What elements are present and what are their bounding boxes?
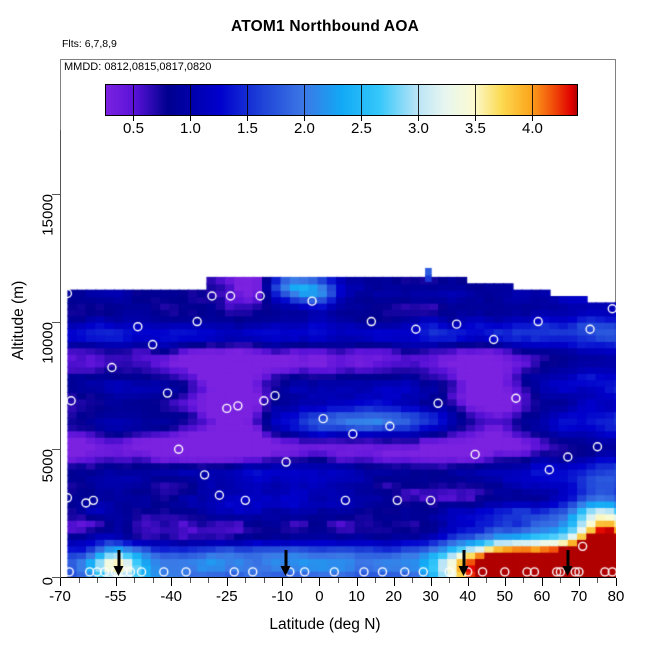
x-axis-minor-tick (97, 578, 98, 583)
x-axis-tick (171, 578, 172, 586)
latitude-arrow-marker (114, 550, 125, 576)
flights-annotation: Flts: 6,7,8,9 (62, 38, 117, 50)
y-axis-tick-label: 5000 (40, 449, 57, 482)
colorbar-gradient (105, 84, 578, 116)
x-axis-tick (394, 578, 395, 586)
y-axis-tick-label: 0 (40, 577, 57, 585)
x-axis-tick-label: 0 (315, 588, 323, 605)
x-axis-tick (505, 578, 506, 586)
x-axis-tick (468, 578, 469, 586)
x-axis-minor-tick (264, 578, 265, 583)
x-axis-tick (227, 578, 228, 586)
x-axis-tick (542, 578, 543, 586)
colorbar: 0.51.01.52.02.53.03.54.0 (105, 84, 578, 116)
x-axis-minor-tick (245, 578, 246, 583)
x-axis-tick-label: 60 (534, 588, 551, 605)
x-axis-tick (319, 578, 320, 586)
x-axis-tick-label: -10 (272, 588, 294, 605)
x-axis-tick-label: 10 (348, 588, 365, 605)
latitude-arrow-marker (459, 550, 470, 576)
x-axis-tick (60, 578, 61, 586)
heatmap-plot (60, 130, 616, 578)
y-axis-tick-label: 10000 (40, 322, 57, 364)
x-axis-minor-tick (449, 578, 450, 583)
x-axis-minor-tick (79, 578, 80, 583)
x-axis-minor-tick (560, 578, 561, 583)
x-axis-tick (116, 578, 117, 586)
x-axis-minor-tick (523, 578, 524, 583)
colorbar-segment-divider (475, 84, 476, 116)
colorbar-segment-divider (361, 84, 362, 116)
colorbar-segment-divider (304, 84, 305, 116)
x-axis-minor-tick (338, 578, 339, 583)
x-axis-minor-tick (153, 578, 154, 583)
x-axis-tick-label: 40 (459, 588, 476, 605)
x-axis-tick-label: -40 (160, 588, 182, 605)
figure-root: ATOM1 Northbound AOA Flts: 6,7,8,9 MMDD:… (0, 0, 650, 650)
x-axis-tick-label: 80 (608, 588, 625, 605)
latitude-arrow-marker (281, 550, 292, 576)
x-axis-tick-label: -25 (216, 588, 238, 605)
x-axis-tick-label: 20 (385, 588, 402, 605)
x-axis-minor-tick (301, 578, 302, 583)
latitude-arrow-marker (562, 550, 573, 576)
x-axis-minor-tick (486, 578, 487, 583)
x-axis-tick-label: 70 (571, 588, 588, 605)
y-axis-tick-label: 15000 (40, 194, 57, 236)
colorbar-segment-divider (133, 84, 134, 116)
colorbar-segment-divider (418, 84, 419, 116)
x-axis-tick-label: -70 (49, 588, 71, 605)
x-axis-minor-tick (190, 578, 191, 583)
x-axis-tick (431, 578, 432, 586)
x-axis-tick-label: 50 (496, 588, 513, 605)
x-axis-label: Latitude (deg N) (0, 616, 650, 634)
x-axis-tick-label: -55 (105, 588, 127, 605)
x-axis-tick (282, 578, 283, 586)
x-axis-tick (616, 578, 617, 586)
x-axis-minor-tick (597, 578, 598, 583)
x-axis-minor-tick (208, 578, 209, 583)
x-axis-minor-tick (412, 578, 413, 583)
mmdd-annotation: MMDD: 0812,0815,0817,0820 (64, 61, 211, 73)
x-axis-minor-tick (375, 578, 376, 583)
x-axis-minor-tick (134, 578, 135, 583)
page-title: ATOM1 Northbound AOA (0, 18, 650, 36)
y-axis-label: Altitude (m) (10, 281, 28, 360)
colorbar-segment-divider (190, 84, 191, 116)
x-axis-tick (579, 578, 580, 586)
y-axis-line (60, 130, 61, 578)
colorbar-segment-divider (247, 84, 248, 116)
x-axis-tick (357, 578, 358, 586)
x-axis-tick-label: 30 (422, 588, 439, 605)
colorbar-segment-divider (532, 84, 533, 116)
